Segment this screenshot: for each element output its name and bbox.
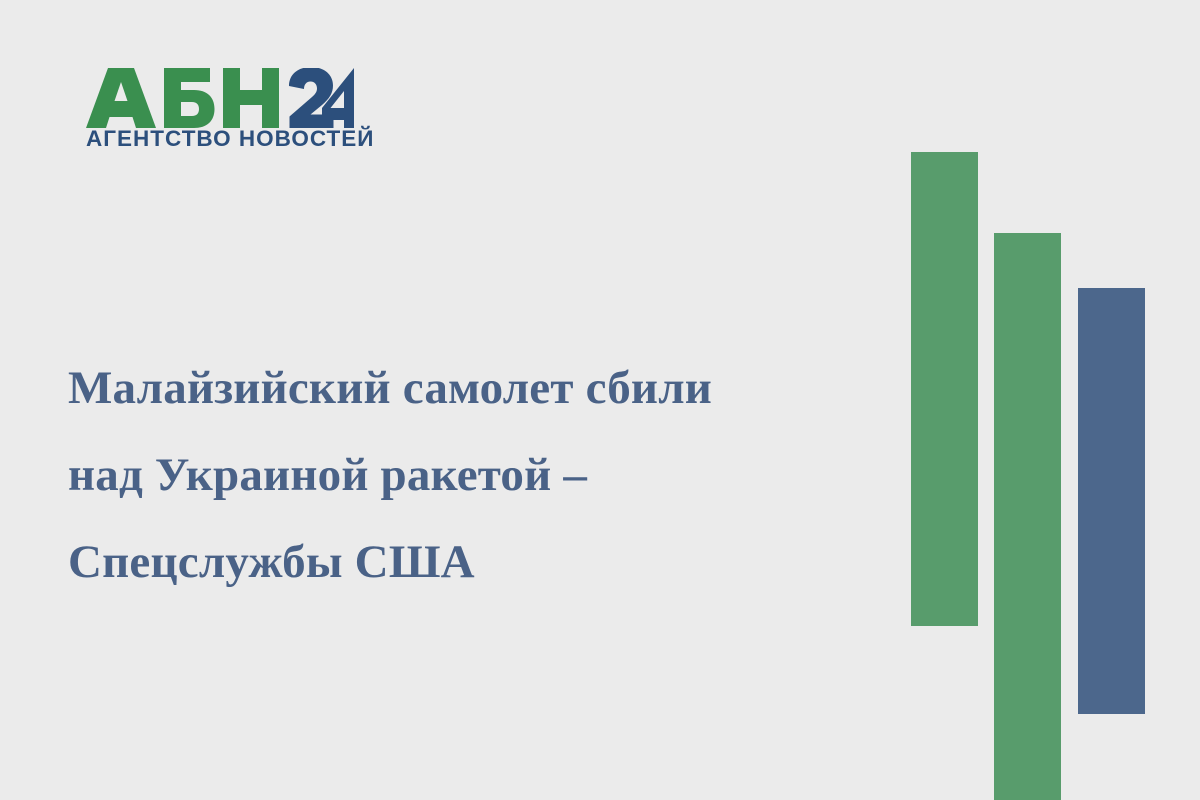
news-card: АГЕНТСТВО НОВОСТЕЙ Малайзийский самолет … xyxy=(0,0,1200,800)
headline-line-2: над Украиной ракетой – xyxy=(68,432,868,519)
site-logo[interactable]: АГЕНТСТВО НОВОСТЕЙ xyxy=(86,68,354,154)
logo-wordmark-text: АГЕНТСТВО НОВОСТЕЙ xyxy=(86,126,354,152)
decoration-bar-3 xyxy=(1078,288,1145,714)
headline-line-1: Малайзийский самолет сбили xyxy=(68,345,868,432)
decoration-bar-1 xyxy=(911,152,978,626)
page-title: Малайзийский самолет сбили над Украиной … xyxy=(68,345,868,606)
logo-mark-icon xyxy=(86,68,354,128)
logo-wordmark: АГЕНТСТВО НОВОСТЕЙ xyxy=(86,126,354,152)
decoration-bar-2 xyxy=(994,233,1061,800)
headline-line-3: Спецслужбы США xyxy=(68,519,868,606)
